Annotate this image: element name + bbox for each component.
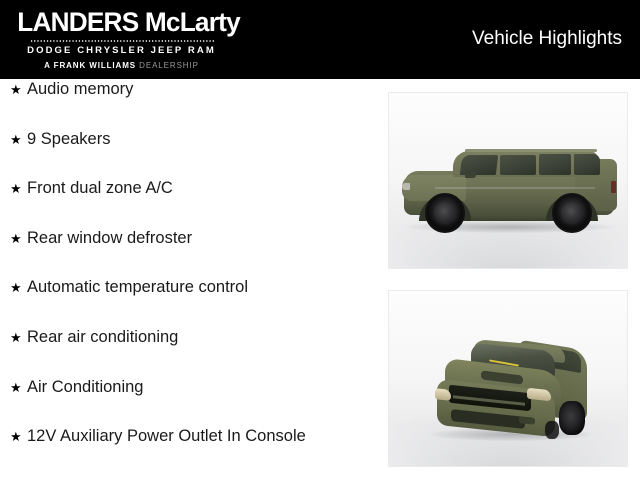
logo-wordmark: LANDERS McLarty: [17, 8, 226, 37]
front-wheel: [425, 193, 465, 233]
star-icon: ★: [10, 378, 27, 398]
rear-door-glass: [539, 154, 571, 175]
dealership-logo[interactable]: LANDERS McLarty DODGE CHRYSLER JEEP RAM …: [14, 8, 229, 71]
list-item: ★ Rear window defroster: [0, 228, 380, 278]
logo-brands-subtitle: DODGE CHRYSLER JEEP RAM: [14, 44, 229, 57]
feature-label: Air Conditioning: [27, 377, 143, 397]
vehicle-highlights-page: LANDERS McLarty DODGE CHRYSLER JEEP RAM …: [0, 0, 640, 480]
list-item: ★ 9 Speakers: [0, 129, 380, 179]
star-icon: ★: [10, 278, 27, 298]
right-headlight: [527, 388, 551, 402]
star-icon: ★: [10, 130, 27, 150]
list-item: ★ Audio memory: [0, 79, 380, 129]
beltline-highlight: [435, 187, 595, 189]
roof-rail: [465, 149, 597, 152]
list-item: ★ Front dual zone A/C: [0, 178, 380, 228]
vehicle-photo-side-profile[interactable]: [388, 92, 628, 269]
list-item: ★ Automatic temperature control: [0, 277, 380, 327]
logo-tagline: A FRANK WILLIAMS DEALERSHIP: [14, 60, 229, 71]
headlight: [402, 183, 410, 190]
logo-dotted-divider: [30, 40, 214, 42]
front-wheel: [559, 401, 585, 435]
feature-label: 9 Speakers: [27, 129, 110, 149]
logo-tagline-dealership: DEALERSHIP: [139, 61, 199, 70]
feature-label: Rear window defroster: [27, 228, 192, 248]
star-icon: ★: [10, 179, 27, 199]
star-icon: ★: [10, 328, 27, 348]
content-area: ★ Audio memory ★ 9 Speakers ★ Front dual…: [0, 79, 640, 480]
page-title: Vehicle Highlights: [472, 27, 622, 50]
suv-side-illustration: [401, 139, 617, 235]
suv-front-illustration: [427, 327, 595, 441]
star-icon: ★: [10, 427, 27, 447]
logo-tagline-owner: A FRANK WILLIAMS: [44, 61, 136, 70]
feature-label: Audio memory: [27, 79, 133, 99]
quarter-glass: [574, 154, 600, 175]
feature-label: 12V Auxiliary Power Outlet In Console: [27, 426, 306, 446]
star-icon: ★: [10, 80, 27, 100]
feature-label: Front dual zone A/C: [27, 178, 173, 198]
feature-label: Rear air conditioning: [27, 327, 178, 347]
taillight: [611, 181, 616, 193]
list-item: ★ Rear air conditioning: [0, 327, 380, 377]
rear-wheel: [552, 193, 592, 233]
feature-label: Automatic temperature control: [27, 277, 248, 297]
list-item: ★ Air Conditioning: [0, 377, 380, 427]
header-bar: LANDERS McLarty DODGE CHRYSLER JEEP RAM …: [0, 0, 640, 79]
rear-wheel: [545, 421, 559, 439]
vehicle-photo-front-three-quarter[interactable]: [388, 290, 628, 467]
side-mirror: [465, 171, 476, 178]
star-icon: ★: [10, 229, 27, 249]
vehicle-features-list: ★ Audio memory ★ 9 Speakers ★ Front dual…: [0, 79, 380, 476]
front-door-glass: [500, 155, 536, 175]
list-item: ★ 12V Auxiliary Power Outlet In Console: [0, 426, 380, 476]
